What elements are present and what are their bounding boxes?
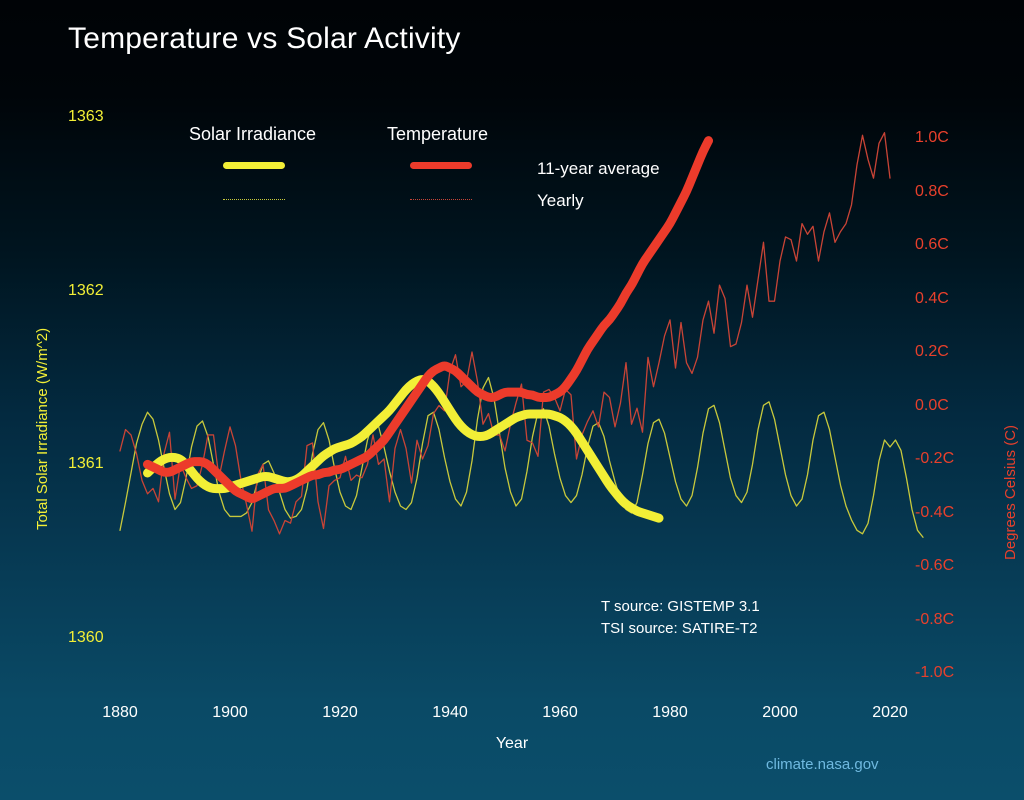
chart-page: Temperature vs Solar Activity 1363136213…: [0, 0, 1024, 800]
y-axis-left-tick: 1361: [68, 455, 104, 473]
y-axis-left-tick: 1363: [68, 108, 104, 126]
x-axis-tick: 2000: [740, 704, 820, 722]
x-axis-title: Year: [0, 735, 1024, 753]
x-axis-tick: 2020: [850, 704, 930, 722]
y-axis-left-tick: 1362: [68, 282, 104, 300]
series-solar-yearly: [120, 378, 923, 538]
x-axis-tick: 1920: [300, 704, 380, 722]
y-axis-left-title: Total Solar Irradiance (W/m^2): [34, 328, 51, 530]
solar-yearly-line: [120, 378, 923, 538]
y-axis-left-tick: 1360: [68, 629, 104, 647]
source-annotations: T source: GISTEMP 3.1 TSI source: SATIRE…: [601, 596, 760, 640]
temperature-yearly-line: [120, 133, 890, 534]
source-irradiance: TSI source: SATIRE-T2: [601, 618, 760, 640]
solar-average-line: [148, 380, 660, 519]
x-axis-tick: 1900: [190, 704, 270, 722]
y-axis-right-tick: 1.0C: [915, 129, 949, 147]
y-axis-right-tick: 0.0C: [915, 397, 949, 415]
series-temperature-yearly: [120, 133, 890, 534]
y-axis-right-tick: 0.4C: [915, 290, 949, 308]
source-temperature: T source: GISTEMP 3.1: [601, 596, 760, 618]
y-axis-right-tick: 0.8C: [915, 183, 949, 201]
y-axis-right-tick: 0.6C: [915, 236, 949, 254]
y-axis-right-tick: -0.2C: [915, 450, 954, 468]
watermark-link[interactable]: climate.nasa.gov: [766, 756, 879, 773]
chart-canvas: [0, 0, 1024, 800]
y-axis-right-tick: 0.2C: [915, 343, 949, 361]
x-axis-tick: 1940: [410, 704, 490, 722]
y-axis-right-tick: -0.6C: [915, 557, 954, 575]
y-axis-right-tick: -0.8C: [915, 611, 954, 629]
y-axis-right-tick: -0.4C: [915, 504, 954, 522]
y-axis-right-tick: -1.0C: [915, 664, 954, 682]
x-axis-tick: 1960: [520, 704, 600, 722]
x-axis-tick: 1880: [80, 704, 160, 722]
y-axis-right-title: Degrees Celsius (C): [1002, 425, 1019, 560]
x-axis-tick: 1980: [630, 704, 710, 722]
plot-area: [0, 0, 1024, 800]
series-solar-average: [148, 380, 660, 519]
